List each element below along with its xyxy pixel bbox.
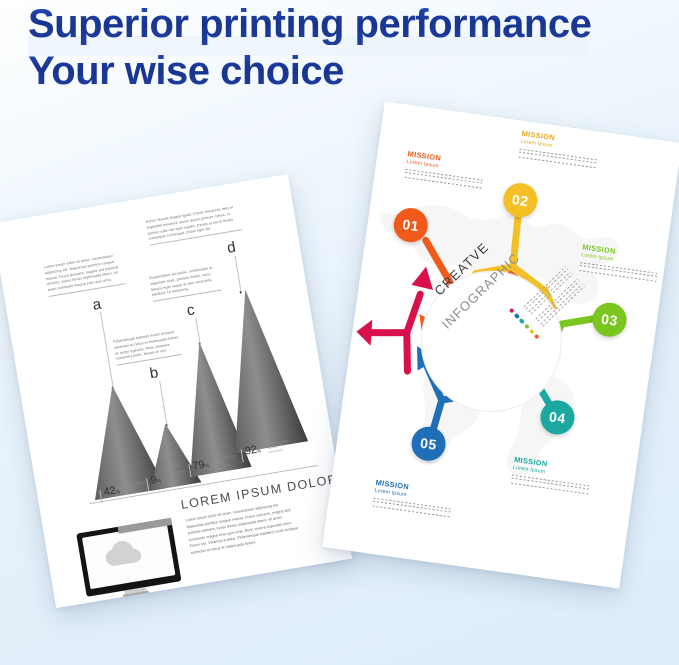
chart-value-a-suffix: % [115,489,120,496]
chart-value-c: 79% [192,458,210,472]
right-document-sheet[interactable]: CREATVE INFOGRAPHIC 01 02 03 04 05 [322,101,679,588]
label-b: b [148,364,159,382]
leader-line-d [235,256,242,293]
chart-value-d: 92% [244,443,262,457]
left-document-sheet[interactable]: Lorem ipsum dolor sit amet, consectetuer… [0,174,352,608]
leader-line-b [159,381,167,425]
leader-line-a [100,312,113,388]
chart-value-b: 9% [150,473,162,486]
text-block-a: Lorem ipsum dolor sit amet, consectetuer… [44,253,126,297]
chart-note-d: Lorem ipsum dolor sit amet consectetuer [267,439,291,454]
label-c: c [186,301,196,319]
infographic-center: CREATVE INFOGRAPHIC [409,259,574,424]
headline-line-2: Your wise choice [28,45,668,92]
chart-value-b-suffix: % [156,478,161,485]
right-document-content: CREATVE INFOGRAPHIC 01 02 03 04 05 [322,101,679,588]
chart-value-c-suffix: % [204,463,209,470]
headline-block: Superior printing performance Your wise … [28,0,668,92]
chart-value-d-number: 92 [244,444,257,458]
desktop-monitor-cloud-icon [74,515,194,608]
label-d: d [226,239,237,257]
poster-canvas: Superior printing performance Your wise … [0,0,679,665]
chart-value-c-number: 79 [192,459,205,473]
left-document-content: Lorem ipsum dolor sit amet, consectetuer… [0,174,352,608]
headline-line-1: Superior printing performance [28,0,668,45]
chart-value-a: 42% [103,484,121,498]
chart-value-a-number: 42 [103,485,116,499]
label-a: a [91,296,102,314]
leader-line-c [195,318,200,344]
chart-value-d-suffix: % [256,448,261,455]
